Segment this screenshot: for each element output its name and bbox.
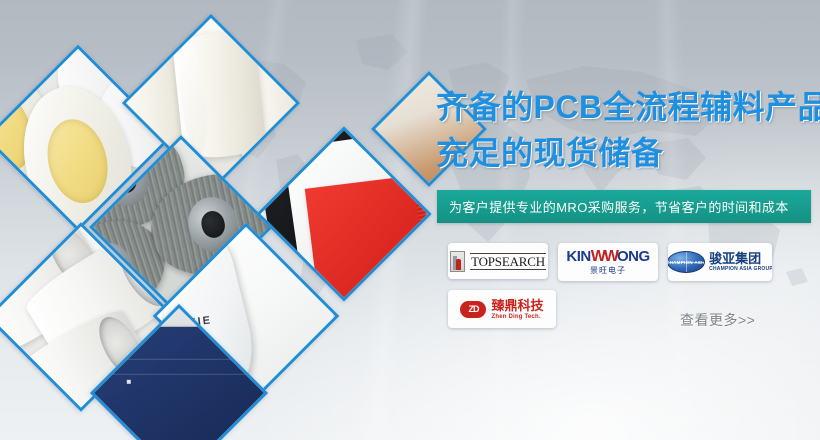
banner-headline: 齐备的PCB全流程辅料产品、 充足的现货储备 xyxy=(436,84,820,176)
logo-zhen-ding-text-cn: 臻鼎科技 xyxy=(491,299,543,312)
globe-icon: CHAMPION ASIA xyxy=(668,251,705,273)
logo-kinwong-subtext: 景旺电子 xyxy=(566,267,649,275)
logo-champion-asia[interactable]: CHAMPION ASIA 骏亚集团 CHAMPION ASIA GROUP xyxy=(668,243,772,281)
topsearch-mark-icon xyxy=(450,251,465,272)
logo-kinwong-text-accent: WW xyxy=(591,248,617,265)
promo-banner: JIE 齐备的PCB全流程辅料产品、 充足的现货储备 为客户提供专业的MRO采购… xyxy=(0,0,820,440)
zhen-ding-mark-icon: ZD xyxy=(460,301,486,318)
logo-kinwong-text-left: KIN xyxy=(566,248,590,265)
logo-kinwong-text-right: ONG xyxy=(617,248,650,265)
logo-topsearch-text: TOPSEARCH xyxy=(470,253,546,270)
logo-topsearch[interactable]: TOPSEARCH xyxy=(448,243,548,279)
logo-champion-globe-text: CHAMPION ASIA xyxy=(668,260,705,265)
logo-kinwong[interactable]: KINWWONG 景旺电子 xyxy=(558,243,658,281)
headline-line-2: 充足的现货储备 xyxy=(436,130,820,176)
view-more-link[interactable]: 查看更多>> xyxy=(680,310,755,330)
banner-subtitle-text: 为客户提供专业的MRO采购服务，节省客户的时间和成本 xyxy=(449,197,789,216)
logo-zhen-ding[interactable]: ZD 臻鼎科技 Zhen Ding Tech. xyxy=(448,290,556,328)
logo-champion-text-cn: 骏亚集团 xyxy=(709,252,772,265)
logo-champion-text-en: CHAMPION ASIA GROUP xyxy=(709,267,772,272)
banner-content: 齐备的PCB全流程辅料产品、 充足的现货储备 为客户提供专业的MRO采购服务，节… xyxy=(430,0,820,440)
banner-subtitle-bar: 为客户提供专业的MRO采购服务，节省客户的时间和成本 xyxy=(437,190,811,223)
logo-zhen-ding-text-en: Zhen Ding Tech. xyxy=(491,314,543,320)
headline-line-1: 齐备的PCB全流程辅料产品、 xyxy=(436,84,820,130)
